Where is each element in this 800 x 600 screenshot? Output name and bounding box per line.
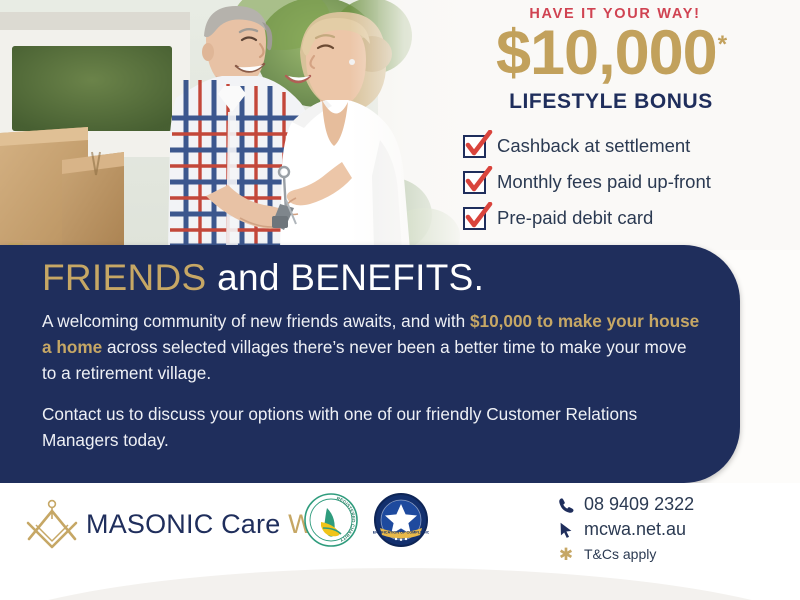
panel-p1-part1: A welcoming community of new friends awa… — [42, 311, 470, 331]
contact-terms: T&Cs apply — [584, 546, 656, 562]
promo-subtitle: LIFESTYLE BONUS — [461, 90, 761, 114]
checklist-item: Cashback at settlement — [463, 130, 711, 162]
checklist-item: Pre-paid debit card — [463, 202, 711, 234]
message-panel: FRIENDS and BENEFITS. A welcoming commun… — [0, 245, 740, 483]
cursor-arrow-icon — [556, 520, 576, 540]
certification-badges: REGISTERED CHARITY CERTIFICATION OF COMP… — [303, 492, 429, 548]
brand-logo[interactable]: MASONIC Care WA — [24, 499, 331, 549]
checklist-item: Monthly fees paid up-front — [463, 166, 711, 198]
masonic-square-and-compass-icon — [24, 499, 80, 549]
checklist-item-label: Cashback at settlement — [497, 135, 690, 157]
panel-paragraph-2: Contact us to discuss your options with … — [42, 401, 700, 453]
checklist-item-label: Pre-paid debit card — [497, 207, 653, 229]
promo-headline-block: HAVE IT YOUR WAY! $10,000* LIFESTYLE BON… — [455, 6, 800, 114]
photo-fade-overlay — [350, 0, 470, 250]
contact-block: 08 9409 2322 mcwa.net.au ✱ T&Cs apply — [556, 494, 694, 568]
promo-amount-asterisk: * — [718, 31, 726, 58]
contact-website-row[interactable]: mcwa.net.au — [556, 519, 694, 540]
panel-title-white: and BENEFITS. — [207, 257, 485, 298]
registered-charity-badge: REGISTERED CHARITY — [303, 492, 359, 548]
panel-paragraph-1: A welcoming community of new friends awa… — [42, 308, 700, 386]
advertisement-root: HAVE IT YOUR WAY! $10,000* LIFESTYLE BON… — [0, 0, 800, 600]
panel-title: FRIENDS and BENEFITS. — [42, 258, 702, 299]
checkbox-checked-icon — [463, 135, 486, 158]
panel-title-gold: FRIENDS — [42, 257, 207, 298]
certification-of-compliance-badge: CERTIFICATION OF COMPLIANCE — [373, 492, 429, 548]
panel-p1-part2: across selected villages there’s never b… — [42, 337, 687, 383]
contact-phone-row[interactable]: 08 9409 2322 — [556, 494, 694, 515]
checkbox-checked-icon — [463, 171, 486, 194]
checkbox-checked-icon — [463, 207, 486, 230]
hero-photo — [0, 0, 470, 250]
benefits-checklist: Cashback at settlement Monthly fees paid… — [463, 130, 711, 238]
promo-amount-value: $10,000 — [496, 18, 717, 88]
svg-text:CERTIFICATION OF COMPLIANCE: CERTIFICATION OF COMPLIANCE — [373, 531, 429, 535]
promo-amount: $10,000* — [461, 24, 761, 84]
brand-logo-navy: MASONIC Care — [86, 509, 280, 539]
contact-terms-row: ✱ T&Cs apply — [556, 544, 694, 564]
contact-phone: 08 9409 2322 — [584, 494, 694, 515]
checklist-item-label: Monthly fees paid up-front — [497, 171, 711, 193]
asterisk-icon: ✱ — [556, 544, 576, 564]
brand-logo-text: MASONIC Care WA — [86, 509, 331, 540]
phone-icon — [556, 495, 576, 515]
contact-website: mcwa.net.au — [584, 519, 686, 540]
